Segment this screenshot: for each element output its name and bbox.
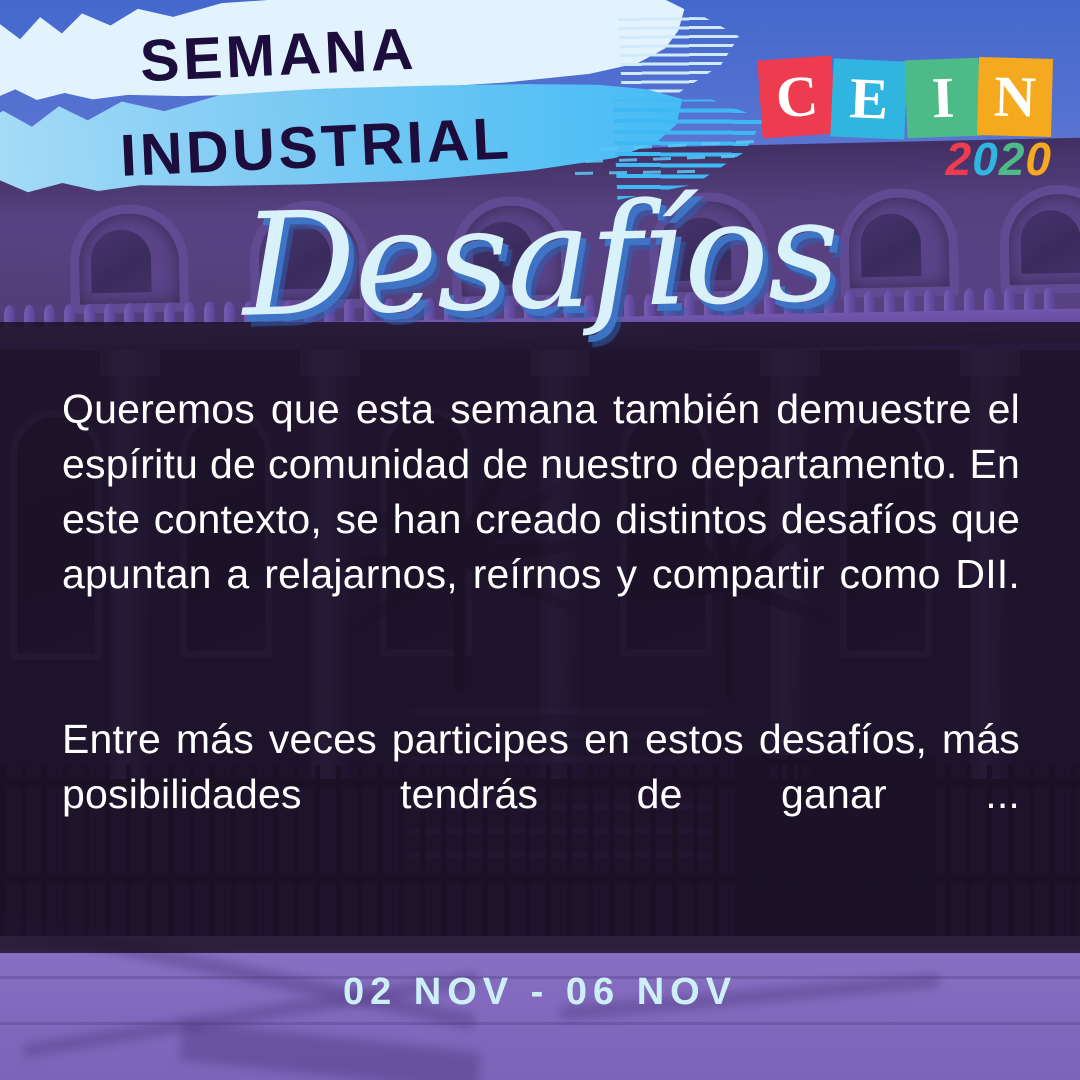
cein-tile-e: E (830, 58, 907, 139)
cein-tile-c: C (757, 56, 836, 139)
cein-logo-tiles: C E I N (760, 58, 1056, 138)
date-range: 02 NOV - 06 NOV (0, 971, 1080, 1014)
page-title: Desafíos (0, 168, 1080, 350)
body-paragraph-2: Entre más veces participes en estos desa… (62, 712, 1020, 877)
body-copy: Queremos que esta semana también demuest… (62, 382, 1020, 877)
poster-canvas: SEMANA INDUSTRIAL C E I N 2020 Desafíos … (0, 0, 1080, 1080)
cein-tile-n: N (977, 57, 1053, 137)
body-paragraph-1: Queremos que esta semana también demuest… (62, 382, 1020, 657)
cein-tile-i: I (905, 58, 982, 139)
header-line-semana: SEMANA (139, 15, 418, 95)
